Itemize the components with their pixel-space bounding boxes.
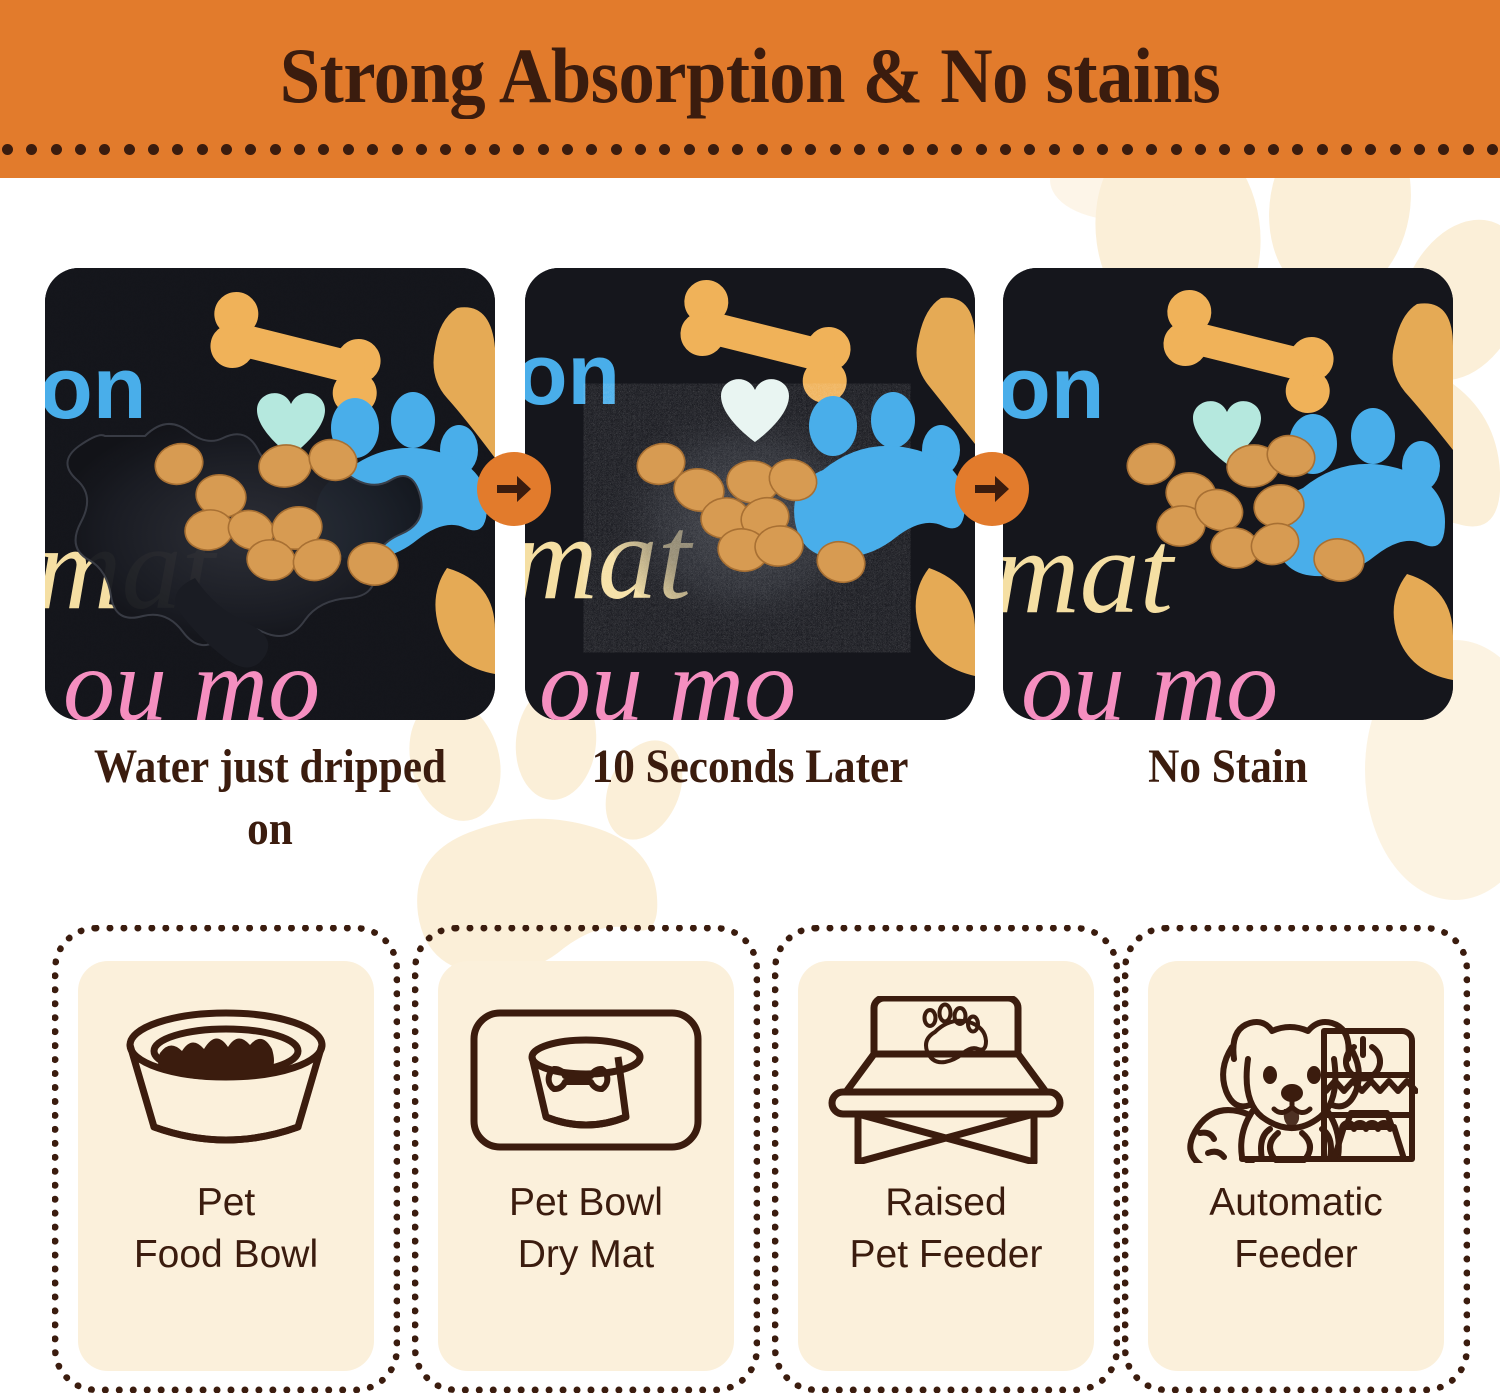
demo-photo-water-dripped: on mat ou mo bbox=[45, 268, 495, 720]
header-dot bbox=[1487, 144, 1498, 155]
svg-text:ou mo: ou mo bbox=[1021, 628, 1278, 720]
header-dot bbox=[343, 144, 354, 155]
header-dot bbox=[513, 144, 524, 155]
svg-text:on: on bbox=[45, 338, 147, 437]
feature-label-line2: Food Bowl bbox=[134, 1229, 318, 1281]
header-dot bbox=[562, 144, 573, 155]
page-title: Strong Absorption & No stains bbox=[53, 32, 1448, 120]
demo-caption: 10 Seconds Later bbox=[548, 736, 953, 798]
feature-card-pet-food-bowl[interactable]: Pet Food Bowl bbox=[52, 925, 400, 1393]
svg-text:on: on bbox=[525, 327, 620, 423]
header-dot bbox=[489, 144, 500, 155]
absorption-demo-row: on mat ou mo bbox=[0, 268, 1500, 723]
header-dot bbox=[1244, 144, 1255, 155]
header-dot bbox=[1438, 144, 1449, 155]
header-dot bbox=[221, 144, 232, 155]
header-dot bbox=[1195, 144, 1206, 155]
header-dot bbox=[124, 144, 135, 155]
header-dot bbox=[903, 144, 914, 155]
feature-label-line2: Pet Feeder bbox=[850, 1229, 1043, 1281]
header-dot bbox=[1049, 144, 1060, 155]
card-inner: Automatic Feeder bbox=[1148, 961, 1444, 1371]
header-dot bbox=[951, 144, 962, 155]
header-dotted-divider bbox=[0, 142, 1500, 156]
svg-text:ou mo: ou mo bbox=[539, 628, 796, 720]
pet-bowl-dry-mat-icon bbox=[470, 991, 702, 1169]
header-dot bbox=[586, 144, 597, 155]
header-dot bbox=[732, 144, 743, 155]
header-dot bbox=[1341, 144, 1352, 155]
header-dot bbox=[757, 144, 768, 155]
header-dot bbox=[318, 144, 329, 155]
card-inner: Pet Bowl Dry Mat bbox=[438, 961, 734, 1371]
header-dot bbox=[197, 144, 208, 155]
svg-text:mat: mat bbox=[1003, 505, 1176, 638]
demo-caption: No Stain bbox=[1026, 736, 1431, 798]
feature-card-raised-pet-feeder[interactable]: Raised Pet Feeder bbox=[772, 925, 1120, 1393]
header-dot bbox=[2, 144, 13, 155]
automatic-feeder-icon bbox=[1174, 991, 1418, 1169]
header-dot bbox=[148, 144, 159, 155]
header-dot bbox=[26, 144, 37, 155]
feature-label-line1: Automatic bbox=[1209, 1177, 1382, 1229]
header-dot bbox=[416, 144, 427, 155]
arrow-right-icon bbox=[477, 452, 551, 526]
header-dot bbox=[99, 144, 110, 155]
pet-food-bowl-icon bbox=[118, 991, 334, 1169]
header-dot bbox=[1268, 144, 1279, 155]
header-dot bbox=[245, 144, 256, 155]
header-dot bbox=[1463, 144, 1474, 155]
demo-photo-no-stain: on mat ou mo bbox=[1003, 268, 1453, 720]
header-dot bbox=[659, 144, 670, 155]
feature-card-pet-bowl-dry-mat[interactable]: Pet Bowl Dry Mat bbox=[412, 925, 760, 1393]
compatible-products-row: Pet Food Bowl bbox=[0, 925, 1500, 1393]
demo-photo-ten-seconds: on mat ou mo bbox=[525, 268, 975, 720]
header-dot bbox=[367, 144, 378, 155]
header-dot bbox=[611, 144, 622, 155]
header-dot bbox=[51, 144, 62, 155]
feature-card-label: Automatic Feeder bbox=[1209, 1177, 1382, 1281]
header-dot bbox=[684, 144, 695, 155]
feature-card-automatic-feeder[interactable]: Automatic Feeder bbox=[1122, 925, 1470, 1393]
header-dot bbox=[1317, 144, 1328, 155]
header-dot bbox=[1292, 144, 1303, 155]
header-dot bbox=[172, 144, 183, 155]
feature-label-line2: Feeder bbox=[1209, 1229, 1382, 1281]
header-dot bbox=[1414, 144, 1425, 155]
raised-pet-feeder-icon bbox=[828, 991, 1064, 1169]
header-dot bbox=[1000, 144, 1011, 155]
header-dot bbox=[1390, 144, 1401, 155]
header-dot bbox=[1122, 144, 1133, 155]
header-dot bbox=[635, 144, 646, 155]
feature-label-line1: Pet Bowl bbox=[509, 1177, 663, 1229]
header-dot bbox=[1073, 144, 1084, 155]
feature-card-label: Raised Pet Feeder bbox=[850, 1177, 1043, 1281]
header-dot bbox=[1171, 144, 1182, 155]
header-dot bbox=[781, 144, 792, 155]
header-dot bbox=[1097, 144, 1108, 155]
header-banner: Strong Absorption & No stains bbox=[0, 0, 1500, 178]
header-dot bbox=[1365, 144, 1376, 155]
header-dot bbox=[294, 144, 305, 155]
header-dot bbox=[1219, 144, 1230, 155]
feature-label-line2: Dry Mat bbox=[509, 1229, 663, 1281]
header-dot bbox=[708, 144, 719, 155]
feature-label-line1: Pet bbox=[134, 1177, 318, 1229]
header-dot bbox=[830, 144, 841, 155]
header-dot bbox=[75, 144, 86, 155]
feature-card-label: Pet Bowl Dry Mat bbox=[509, 1177, 663, 1281]
svg-text:on: on bbox=[1003, 338, 1105, 437]
header-dot bbox=[1024, 144, 1035, 155]
header-dot bbox=[440, 144, 451, 155]
header-dot bbox=[1146, 144, 1157, 155]
header-dot bbox=[854, 144, 865, 155]
header-dot bbox=[927, 144, 938, 155]
demo-caption-row: Water just dripped on 10 Seconds Later N… bbox=[0, 736, 1500, 856]
header-dot bbox=[976, 144, 987, 155]
header-dot bbox=[392, 144, 403, 155]
feature-card-label: Pet Food Bowl bbox=[134, 1177, 318, 1281]
arrow-right-icon bbox=[955, 452, 1029, 526]
header-dot bbox=[878, 144, 889, 155]
feature-label-line1: Raised bbox=[850, 1177, 1043, 1229]
header-dot bbox=[270, 144, 281, 155]
demo-caption: Water just dripped on bbox=[68, 736, 473, 860]
card-inner: Raised Pet Feeder bbox=[798, 961, 1094, 1371]
header-dot bbox=[465, 144, 476, 155]
header-dot bbox=[538, 144, 549, 155]
header-dot bbox=[805, 144, 816, 155]
card-inner: Pet Food Bowl bbox=[78, 961, 374, 1371]
